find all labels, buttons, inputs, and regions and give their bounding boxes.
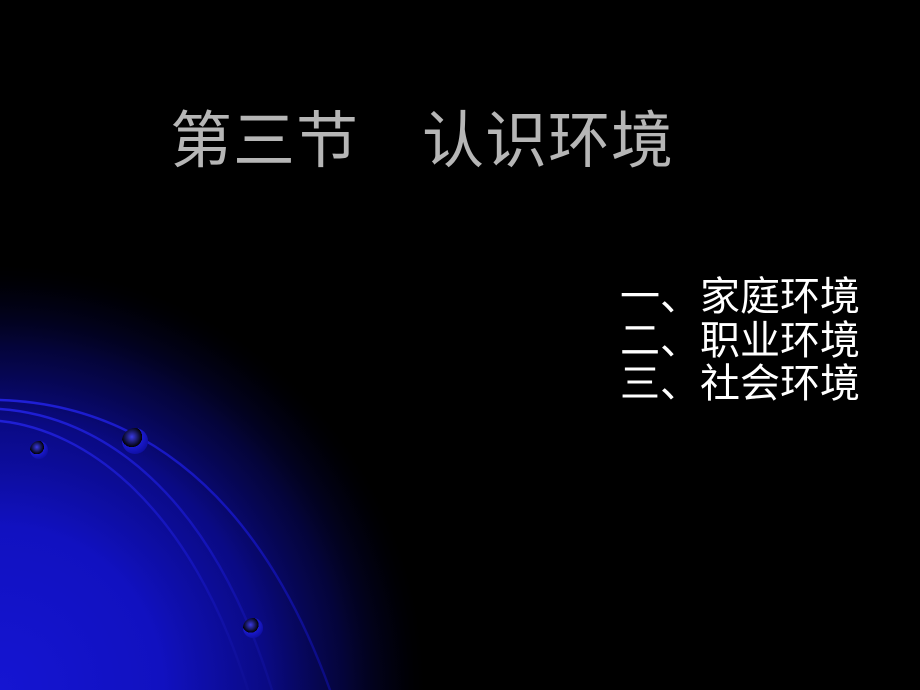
list-item-1: 一、家庭环境 (560, 276, 860, 320)
orbit-arc-middle (0, 409, 272, 690)
orbit-dots (30, 428, 263, 638)
list-item-2: 二、职业环境 (560, 320, 860, 364)
orbit-dot-medium (243, 618, 263, 638)
orbit-dot-small (30, 441, 48, 459)
orbit-arcs (0, 400, 330, 690)
orbit-dot-large (122, 428, 148, 454)
orbit-arc-outer (0, 400, 330, 690)
slide-title: 第三节 认识环境 (170, 108, 674, 173)
slide-body-list: 一、家庭环境 二、职业环境 三、社会环境 (560, 276, 860, 407)
list-item-3: 三、社会环境 (560, 363, 860, 407)
presentation-slide: 第三节 认识环境 一、家庭环境 二、职业环境 三、社会环境 (0, 0, 920, 690)
orbit-arc-inner (0, 421, 248, 690)
corner-glow (0, 260, 430, 690)
